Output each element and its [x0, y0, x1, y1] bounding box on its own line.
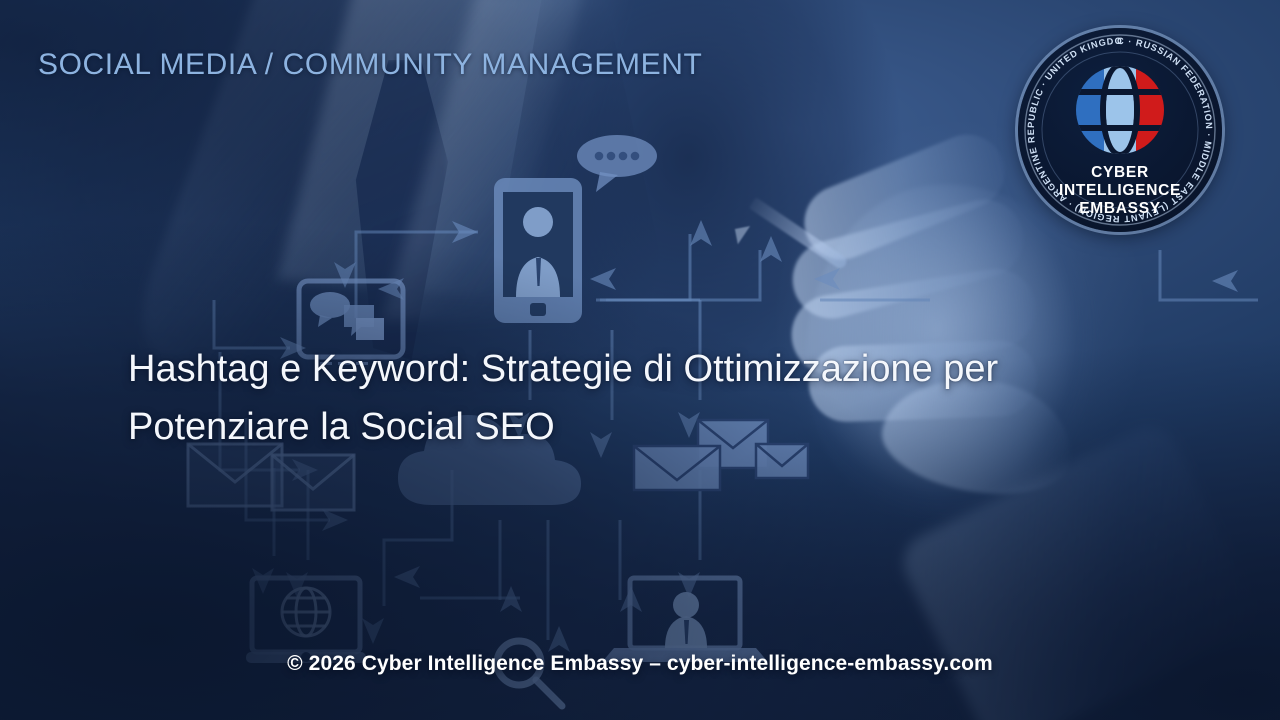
title-line-2: Potenziare la Social SEO	[128, 398, 1118, 456]
logo-line-2: INTELLIGENCE	[1018, 182, 1222, 200]
title-line-1: Hashtag e Keyword: Strategie di Ottimizz…	[128, 340, 1118, 398]
slide-canvas: SOCIAL MEDIA / COMMUNITY MANAGEMENT Hash…	[0, 0, 1280, 720]
logo-line-3: EMBASSY	[1018, 200, 1222, 218]
section-kicker: SOCIAL MEDIA / COMMUNITY MANAGEMENT	[38, 48, 702, 82]
globe-icon	[1068, 58, 1172, 162]
cyber-intelligence-embassy-logo[interactable]: UNITED STATES OF AMERICA · EUROPEAN UNIO…	[1018, 28, 1222, 232]
footer-copyright: © 2026 Cyber Intelligence Embassy – cybe…	[0, 652, 1280, 676]
page-title: Hashtag e Keyword: Strategie di Ottimizz…	[128, 340, 1118, 456]
logo-line-1: CYBER	[1018, 164, 1222, 182]
logo-wordmark: CYBER INTELLIGENCE EMBASSY	[1018, 164, 1222, 218]
